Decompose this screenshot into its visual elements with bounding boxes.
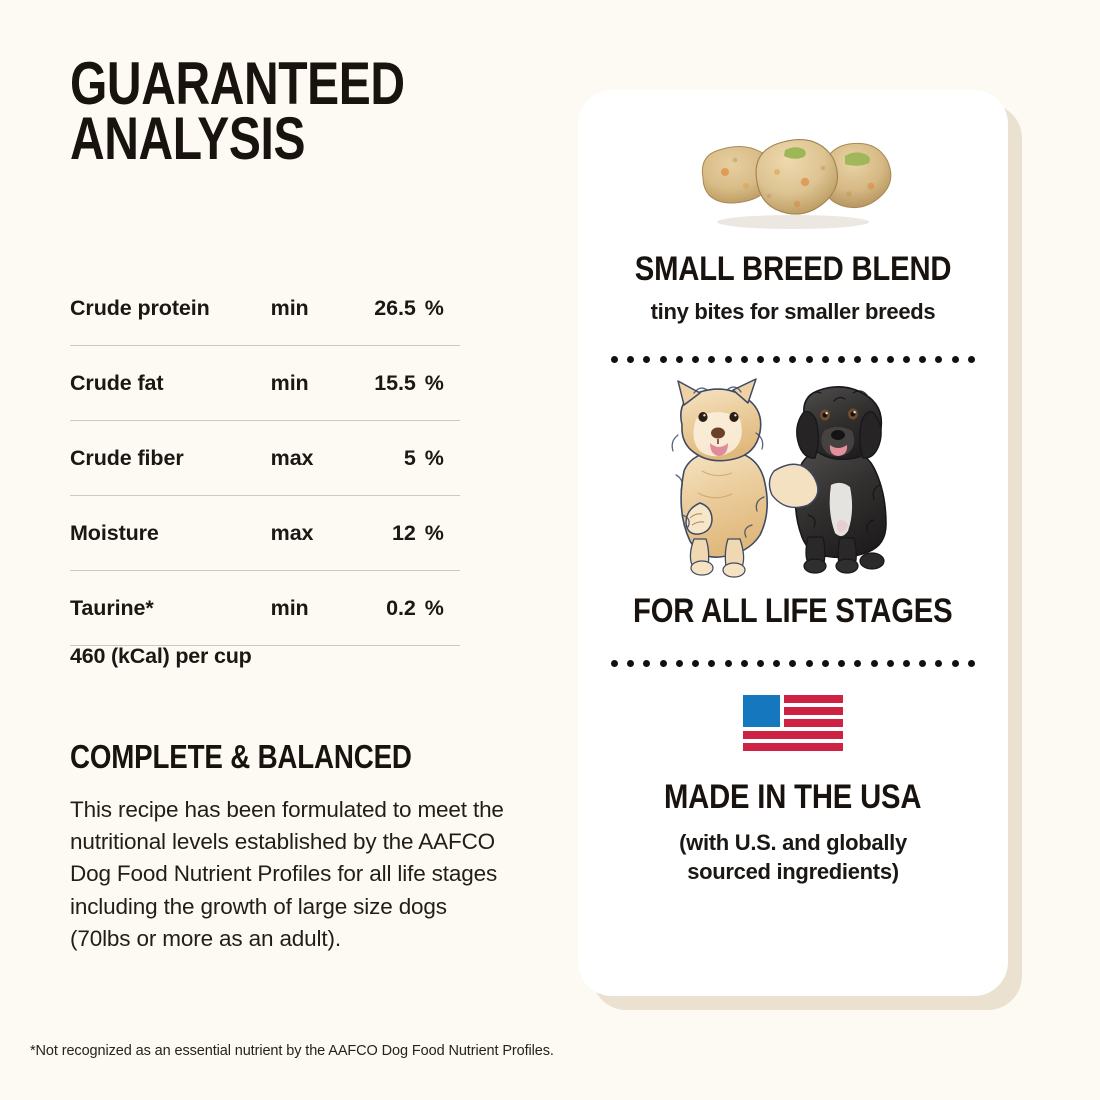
dotted-divider-1	[611, 355, 975, 363]
page-title-line-2: ANALYSIS	[70, 111, 446, 166]
divider-dot	[935, 660, 942, 667]
divider-dot	[643, 356, 650, 363]
divider-dot	[887, 356, 894, 363]
nutrient-qualifier: min	[271, 271, 342, 346]
divider-dot	[854, 356, 861, 363]
divider-dot	[806, 356, 813, 363]
divider-dot	[806, 660, 813, 667]
feature-card: SMALL BREED BLEND tiny bites for smaller…	[578, 90, 1008, 996]
divider-dot	[627, 660, 634, 667]
divider-dot	[692, 660, 699, 667]
flag-canton	[743, 695, 780, 727]
table-row: Crude fibermax5%	[70, 421, 460, 496]
product-info-panel: GUARANTEED ANALYSIS Crude proteinmin26.5…	[0, 0, 1100, 1100]
nutrient-unit: %	[425, 571, 460, 646]
divider-dot	[789, 660, 796, 667]
nutrient-name: Crude fiber	[70, 421, 271, 496]
feature-subtitle-made-in-usa: (with U.S. and globally sourced ingredie…	[679, 829, 907, 886]
divider-dot	[822, 660, 829, 667]
divider-dot	[757, 356, 764, 363]
usa-subtitle-line-1: (with U.S. and globally	[679, 829, 907, 858]
divider-dot	[660, 356, 667, 363]
guaranteed-analysis-table: Crude proteinmin26.5%Crude fatmin15.5%Cr…	[70, 271, 460, 646]
divider-dot	[660, 660, 667, 667]
nutrient-value: 12	[341, 496, 424, 571]
table-row: Crude proteinmin26.5%	[70, 271, 460, 346]
divider-dot	[741, 660, 748, 667]
divider-dot	[741, 356, 748, 363]
divider-dot	[725, 660, 732, 667]
nutrient-name: Crude protein	[70, 271, 271, 346]
divider-dot	[676, 356, 683, 363]
divider-dot	[708, 660, 715, 667]
divider-dot	[757, 660, 764, 667]
usa-subtitle-line-2: sourced ingredients)	[679, 858, 907, 887]
nutrient-unit: %	[425, 421, 460, 496]
feature-title-made-in-usa: MADE IN THE USA	[664, 778, 921, 817]
divider-dot	[708, 356, 715, 363]
nutrient-name: Taurine*	[70, 571, 271, 646]
divider-dot	[968, 356, 975, 363]
divider-dot	[773, 356, 780, 363]
divider-dot	[692, 356, 699, 363]
divider-dot	[773, 660, 780, 667]
divider-dot	[919, 356, 926, 363]
kibble-pieces-image	[673, 116, 913, 234]
divider-dot	[968, 660, 975, 667]
divider-dot	[887, 660, 894, 667]
divider-dot	[952, 660, 959, 667]
feature-title-for-all-life-stages: FOR ALL LIFE STAGES	[633, 592, 952, 631]
divider-dot	[676, 660, 683, 667]
divider-dot	[871, 356, 878, 363]
usa-flag-icon	[743, 695, 843, 750]
complete-balanced-heading: COMPLETE & BALANCED	[70, 738, 412, 776]
nutrient-value: 5	[341, 421, 424, 496]
nutrient-value: 0.2	[341, 571, 424, 646]
nutrient-value: 15.5	[341, 346, 424, 421]
divider-dot	[838, 660, 845, 667]
divider-dot	[919, 660, 926, 667]
divider-dot	[643, 660, 650, 667]
divider-dot	[838, 356, 845, 363]
page-title: GUARANTEED ANALYSIS	[70, 56, 446, 166]
nutrient-name: Moisture	[70, 496, 271, 571]
footnote-taurine: *Not recognized as an essential nutrient…	[30, 1043, 554, 1059]
divider-dot	[627, 356, 634, 363]
nutrient-qualifier: max	[271, 496, 342, 571]
nutrient-qualifier: min	[271, 346, 342, 421]
divider-dot	[952, 356, 959, 363]
table-row: Taurine*min0.2%	[70, 571, 460, 646]
divider-dot	[903, 660, 910, 667]
two-dogs-illustration	[648, 375, 938, 590]
divider-dot	[611, 660, 618, 667]
divider-dot	[854, 660, 861, 667]
nutrient-qualifier: min	[271, 571, 342, 646]
nutrient-name: Crude fat	[70, 346, 271, 421]
nutrient-unit: %	[425, 346, 460, 421]
table-body: Crude proteinmin26.5%Crude fatmin15.5%Cr…	[70, 271, 460, 646]
table-row: Crude fatmin15.5%	[70, 346, 460, 421]
divider-dot	[822, 356, 829, 363]
complete-balanced-body: This recipe has been formulated to meet …	[70, 794, 510, 955]
nutrient-value: 26.5	[341, 271, 424, 346]
guaranteed-analysis-section: GUARANTEED ANALYSIS Crude proteinmin26.5…	[70, 56, 540, 166]
nutrient-unit: %	[425, 496, 460, 571]
page-title-line-1: GUARANTEED	[70, 56, 446, 111]
nutrient-qualifier: max	[271, 421, 342, 496]
divider-dot	[789, 356, 796, 363]
divider-dot	[903, 356, 910, 363]
table-row: Moisturemax12%	[70, 496, 460, 571]
feature-title-small-breed-blend: SMALL BREED BLEND	[635, 250, 952, 289]
divider-dot	[871, 660, 878, 667]
tan-dog	[672, 379, 818, 577]
dotted-divider-2	[611, 659, 975, 667]
divider-dot	[611, 356, 618, 363]
divider-dot	[935, 356, 942, 363]
feature-subtitle-small-breed-blend: tiny bites for smaller breeds	[651, 299, 936, 325]
calorie-content: 460 (kCal) per cup	[70, 644, 252, 669]
divider-dot	[725, 356, 732, 363]
nutrient-unit: %	[425, 271, 460, 346]
